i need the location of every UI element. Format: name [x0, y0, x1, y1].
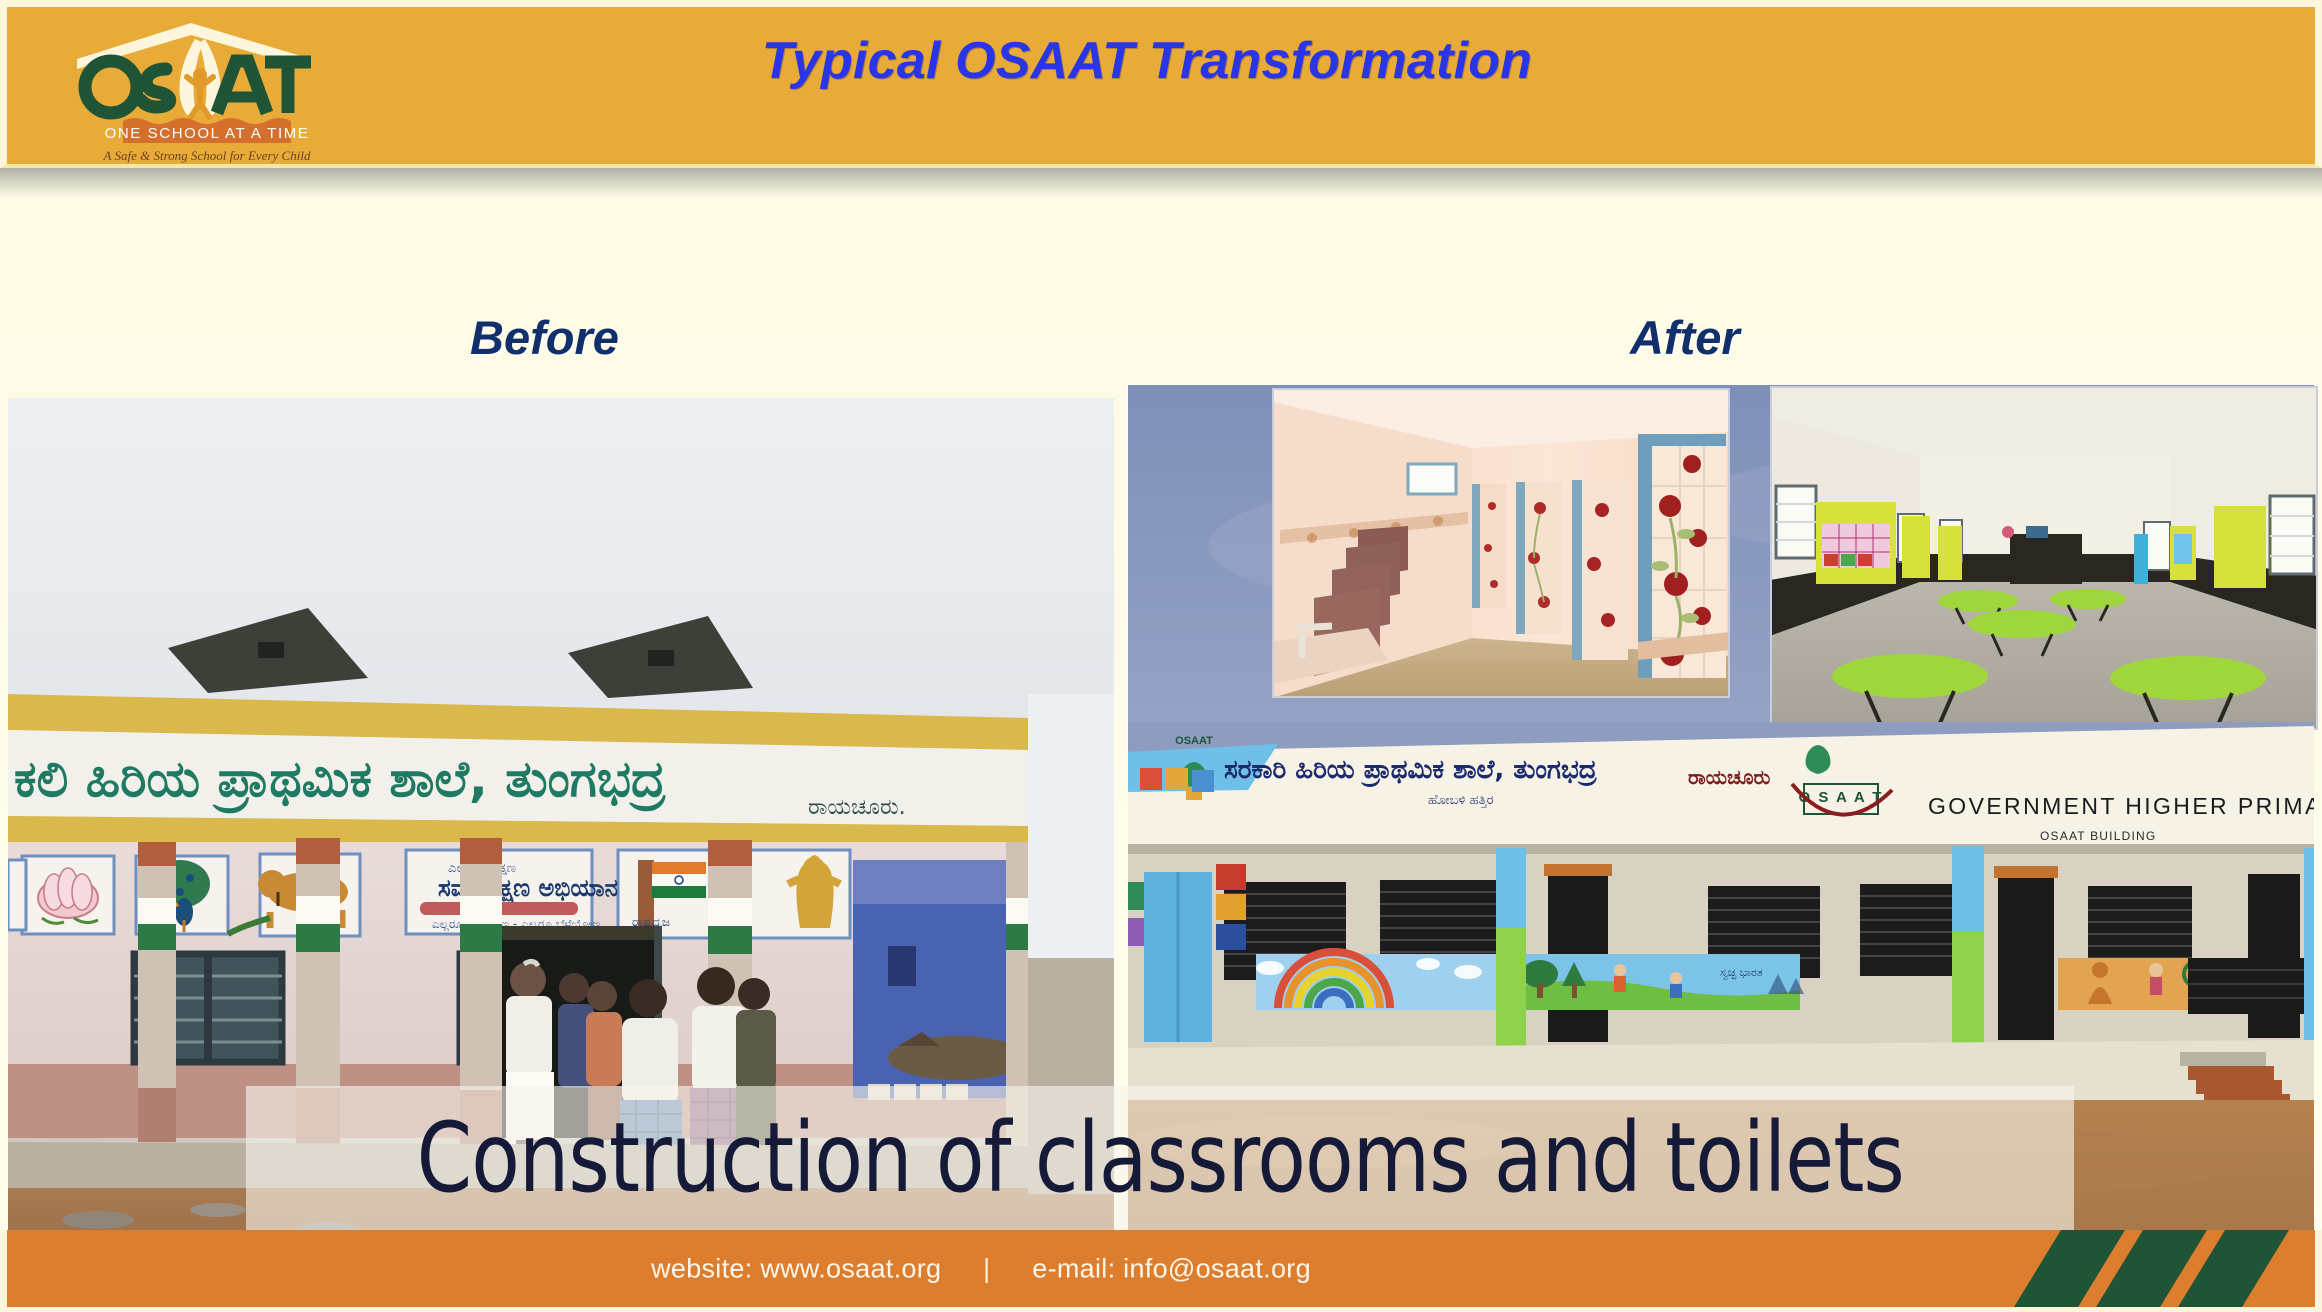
after-sign-kannada: ಸರಕಾರಿ ಹಿರಿಯ ಪ್ರಾಥಮಿಕ ಶಾಲೆ, ತುಂಗಭದ್ರ	[1224, 755, 1597, 787]
header-bar: ONE SCHOOL AT A TIME A Safe & Strong Sch…	[0, 0, 2322, 168]
footer-bar: website: www.osaat.org | e-mail: info@os…	[0, 1230, 2322, 1312]
after-label: After	[1630, 310, 1740, 365]
before-signboard-kannada: ಕಲಿ ಹಿರಿಯ ಪ್ರಾಥಮಿಕ ಶಾಲೆ, ತುಂಗಭದ್ರ	[14, 750, 667, 813]
after-toilet-block-photo	[1272, 388, 1730, 698]
svg-text:ಹೋಬಳಿ ಹತ್ತಿರ: ಹೋಬಳಿ ಹತ್ತಿರ	[1428, 793, 1494, 808]
footer-website[interactable]: website: www.osaat.org	[651, 1253, 941, 1283]
logo-subtagline-text: A Safe & Strong School for Every Child	[103, 148, 311, 163]
header-drop-shadow	[0, 168, 2322, 198]
slide-root: ONE SCHOOL AT A TIME A Safe & Strong Sch…	[0, 0, 2322, 1312]
footer-separator: |	[949, 1253, 1024, 1284]
before-signboard-kannada-suffix: ರಾಯಚೂರು.	[808, 795, 906, 820]
page-title: Typical OSAAT Transformation	[647, 31, 1647, 91]
svg-text:ಸ್ವಚ್ಛ ಭಾರತ: ಸ್ವಚ್ಛ ಭಾರತ	[1720, 966, 1763, 981]
logo-tagline-text: ONE SCHOOL AT A TIME	[105, 125, 310, 142]
before-label: Before	[470, 310, 619, 365]
after-sign-english: GOVERNMENT HIGHER PRIMARY SCHOOL, THUNGA	[1928, 793, 2314, 819]
after-sign-sub: OSAAT BUILDING	[2040, 829, 2156, 843]
after-sign-kannada-suffix: ರಾಯಚೂರು	[1688, 765, 1770, 789]
svg-text:OSAAT: OSAAT	[1175, 735, 1213, 747]
caption-text: Construction of classrooms and toilets	[416, 1102, 1903, 1214]
after-classroom-photo	[1770, 386, 2318, 730]
footer-stripes-decoration	[1975, 1230, 2315, 1312]
caption-band: Construction of classrooms and toilets	[246, 1086, 2074, 1230]
footer-contact: website: www.osaat.org | e-mail: info@os…	[7, 1253, 2315, 1284]
footer-email[interactable]: e-mail: info@osaat.org	[1032, 1253, 1311, 1283]
osaat-logo: ONE SCHOOL AT A TIME A Safe & Strong Sch…	[65, 13, 325, 165]
